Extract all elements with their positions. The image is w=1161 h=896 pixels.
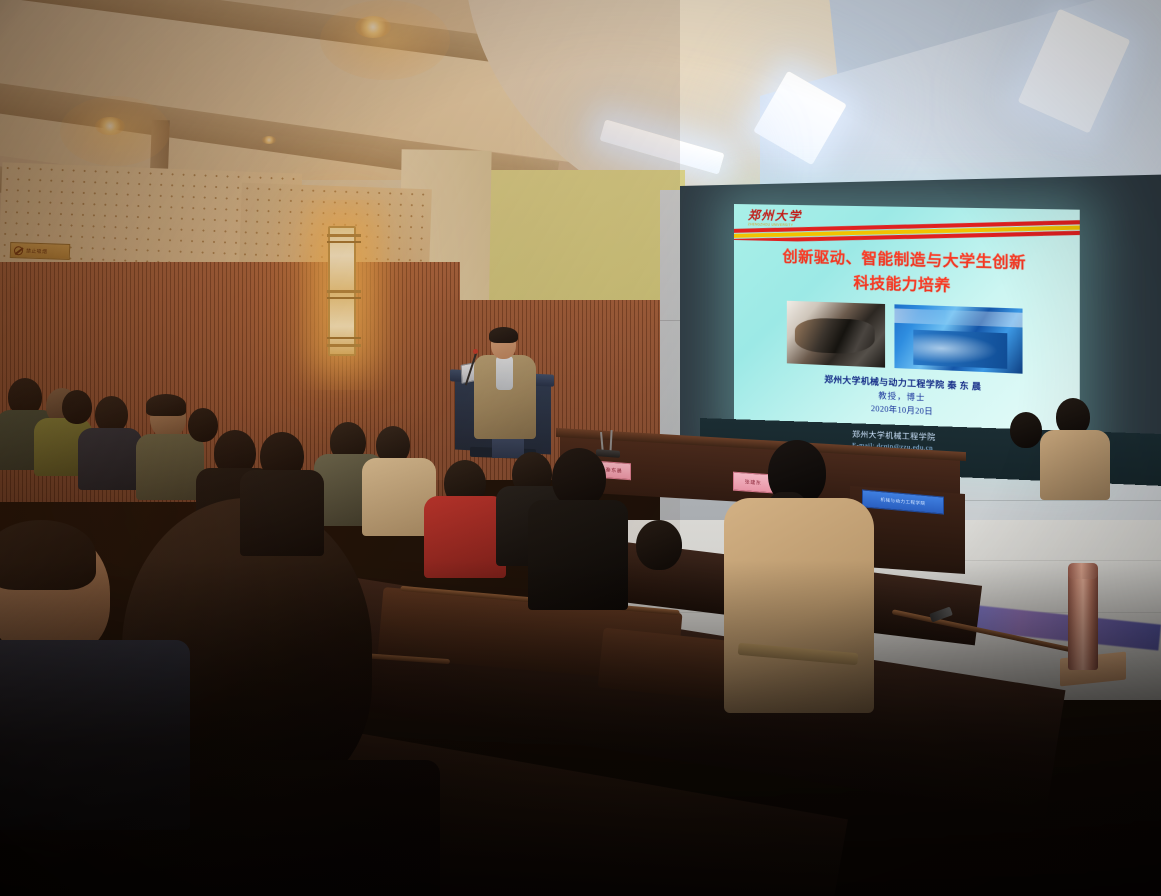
speaker-hair bbox=[489, 327, 518, 343]
thermos-bottle bbox=[1068, 565, 1098, 670]
audience-head bbox=[62, 390, 92, 424]
ceiling-downlight bbox=[262, 136, 276, 144]
foreground-body-blue-hoodie bbox=[0, 640, 190, 830]
audience-body bbox=[528, 500, 628, 610]
audience-head bbox=[636, 520, 682, 570]
name-placard-text: 张建东 bbox=[745, 478, 762, 486]
slide-image-handshake bbox=[786, 301, 884, 368]
audience-head bbox=[1010, 412, 1042, 448]
audience-head bbox=[552, 448, 606, 508]
name-placard: 张建东 bbox=[733, 472, 773, 494]
slide-images bbox=[734, 299, 1080, 376]
name-placard-text: 秦东晨 bbox=[606, 466, 623, 474]
name-placard-text: 机械与动力工程学院 bbox=[881, 497, 926, 507]
university-logo-en: ZHENGZHOU UNIVERSITY bbox=[748, 222, 826, 229]
wall-sconce bbox=[328, 226, 356, 356]
audience-body-red-jacket bbox=[424, 496, 506, 578]
audience-body bbox=[78, 428, 142, 490]
panel-seam bbox=[950, 500, 1161, 501]
slide-image-smart-factory bbox=[894, 304, 1022, 373]
no-smoking-label: 禁止吸烟 bbox=[26, 247, 47, 255]
downlight-glow bbox=[320, 0, 450, 80]
ceiling-downlight bbox=[355, 16, 391, 38]
no-smoking-sign: 禁止吸烟 bbox=[10, 242, 71, 260]
no-smoking-icon bbox=[14, 246, 23, 255]
audience-body bbox=[1040, 430, 1110, 500]
audience-body-trench-coat bbox=[724, 498, 874, 713]
university-logo: 郑州大学 ZHENGZHOU UNIVERSITY bbox=[748, 209, 826, 233]
audience-body bbox=[136, 434, 204, 500]
microphone-indicator bbox=[473, 349, 478, 354]
foreground-hair bbox=[0, 520, 96, 590]
thermos-cap bbox=[1068, 563, 1098, 579]
lecture-hall-photo: 禁止吸烟 郑州大学 ZHENGZHOU UNIVERSITY 创新驱动、智能制造… bbox=[0, 0, 1161, 896]
ceiling-downlight bbox=[95, 117, 125, 135]
audience-body bbox=[240, 470, 324, 556]
audience-head bbox=[188, 408, 218, 442]
slide-title: 创新驱动、智能制造与大学生创新 科技能力培养 bbox=[734, 244, 1080, 303]
speaker-shirt bbox=[496, 356, 513, 390]
audience-hair bbox=[146, 394, 186, 416]
